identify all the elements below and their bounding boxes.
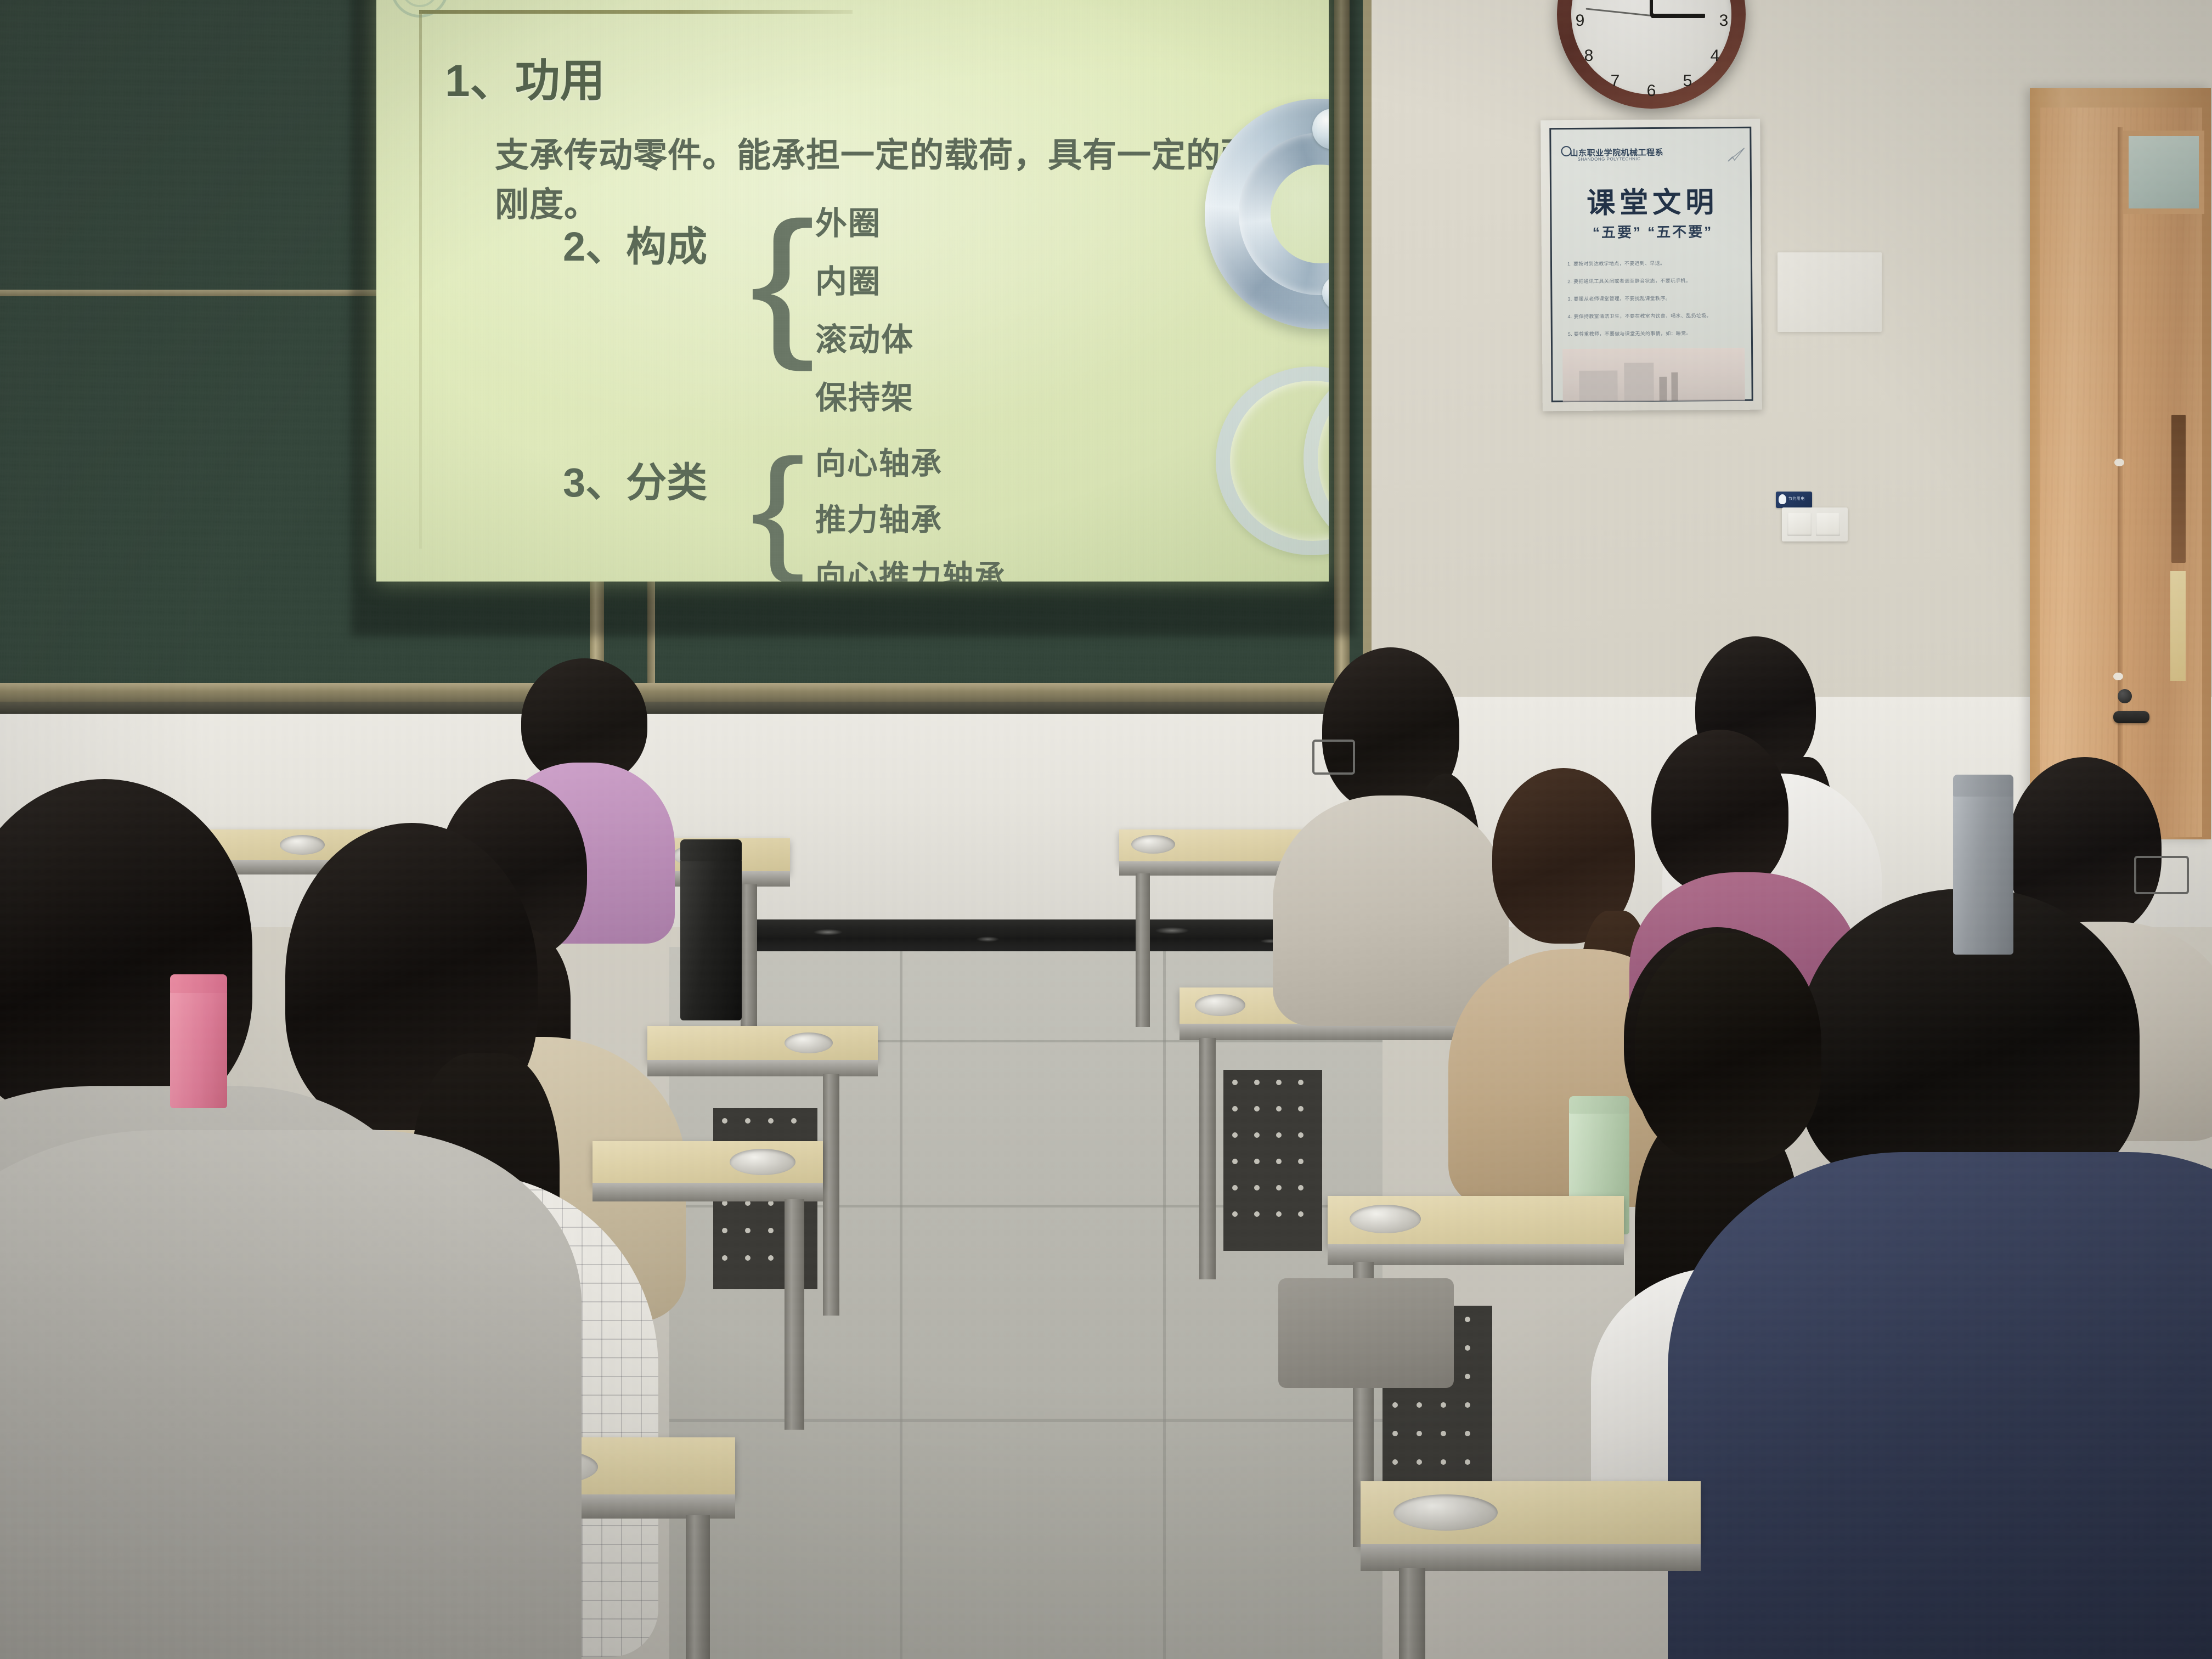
gray-thermos-right	[1953, 790, 2013, 955]
clock-numeral-3: 3	[1719, 12, 1729, 30]
door-stile	[2118, 127, 2123, 857]
clock-numeral-4: 4	[1711, 47, 1720, 65]
clock-numeral-6: 6	[1647, 82, 1656, 100]
poster-rule-3: 3. 要服从老师课堂管理，不要扰乱课堂秩序。	[1567, 294, 1741, 302]
poster-rule-4: 4. 要保持教室清洁卫生，不要在教室内饮食、喝水、乱扔垃圾。	[1568, 312, 1741, 320]
light-switch-rocker-1[interactable]	[1787, 513, 1812, 536]
classroom-door[interactable]	[2040, 108, 2202, 837]
door-handle[interactable]	[2113, 711, 2149, 723]
chair-back-right	[1278, 1278, 1454, 1388]
eyeglasses	[1312, 740, 1355, 775]
classroom-door-frame	[2030, 88, 2211, 839]
poster-rules-list: 1. 要按时到达教学地点，不要迟到、早退。 2. 要把通讯工具关闭或者调至静音状…	[1567, 259, 1741, 348]
black-thermos-mid	[680, 856, 742, 1020]
pink-thermos	[170, 988, 227, 1108]
classroom-photo: 1、功用 支承传动零件。能承担一定的载荷，具有一定的强度和刚度。 2、构成 { …	[0, 0, 2212, 1659]
clock-numeral-8: 8	[1584, 47, 1594, 65]
lightbulb-icon	[1779, 494, 1786, 504]
clock-minute-hand	[1651, 14, 1705, 18]
poster-photo	[1562, 348, 1745, 402]
clock-face: 12 1 2 3 4 5 6 7 8 9 10 11	[1571, 0, 1731, 94]
clock-numeral-9: 9	[1576, 12, 1585, 30]
poster-org-subtitle: SHANDONG POLYTECHNIC	[1578, 156, 1641, 162]
poster-rule-5: 5. 要尊重教师，不要做与课堂无关的事情，如：睡觉。	[1568, 329, 1741, 337]
wall-access-panel	[1778, 252, 1882, 332]
sticker-text: 节约用电	[1788, 496, 1805, 501]
chalk-tray	[0, 683, 1372, 702]
clock-center-pin	[1650, 13, 1655, 18]
clock-second-hand	[1586, 8, 1652, 16]
door-hinge-cap-upper	[2114, 459, 2124, 466]
classroom-etiquette-poster: 山东职业学院机械工程系 SHANDONG POLYTECHNIC 课堂文明 “五…	[1541, 119, 1762, 411]
eyeglasses	[2134, 856, 2189, 894]
clock-numeral-7: 7	[1611, 72, 1620, 91]
door-lock-cylinder[interactable]	[2118, 689, 2132, 703]
paper-plane-icon	[1727, 147, 1746, 162]
projected-slide: 1、功用 支承传动零件。能承担一定的载荷，具有一定的强度和刚度。 2、构成 { …	[376, 0, 1329, 582]
door-vision-slot	[2171, 415, 2186, 563]
poster-rule-1: 1. 要按时到达教学地点，不要迟到、早退。	[1567, 259, 1741, 267]
poster-subtitle: “五要” “五不要”	[1551, 221, 1753, 242]
poster-inner-border: 山东职业学院机械工程系 SHANDONG POLYTECHNIC 课堂文明 “五…	[1549, 127, 1753, 403]
save-electricity-sticker: 节约用电	[1776, 492, 1812, 508]
poster-rule-2: 2. 要把通讯工具关闭或者调至静音状态，不要玩手机。	[1567, 276, 1741, 285]
clock-numeral-5: 5	[1683, 72, 1692, 91]
light-switch[interactable]	[1782, 507, 1848, 541]
door-transom-window	[2123, 131, 2204, 214]
door-hinge-cap-lower	[2113, 673, 2123, 680]
light-switch-rocker-2[interactable]	[1816, 513, 1840, 536]
door-kick-plate	[2170, 571, 2186, 681]
chalk-tray-shadow	[0, 702, 1372, 714]
wall-baseboard	[730, 919, 1344, 951]
poster-title: 课堂文明	[1551, 179, 1754, 222]
